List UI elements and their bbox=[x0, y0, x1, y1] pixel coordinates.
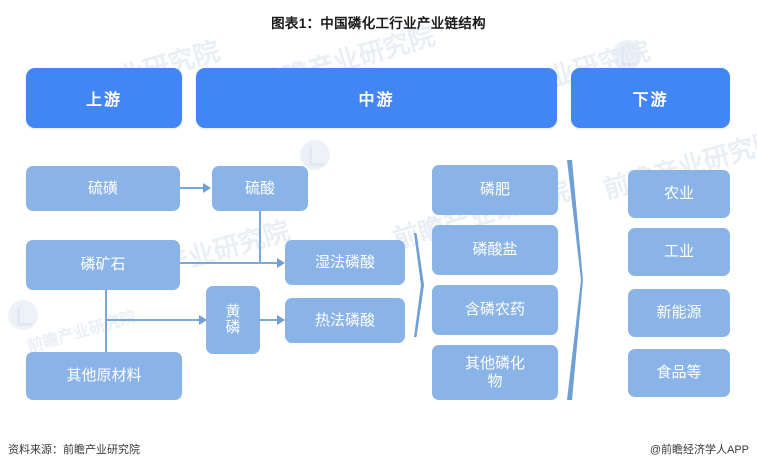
connector-ore-to-junction bbox=[105, 290, 107, 352]
stage-header-upstream[interactable]: 上游 bbox=[26, 68, 182, 128]
connector-junction-to-yellow-phosphorus bbox=[105, 319, 203, 321]
stage-header-downstream[interactable]: 下游 bbox=[571, 68, 730, 128]
node-other-phosphorus-compounds-label: 其他磷化物 bbox=[464, 355, 527, 390]
node-phosphate-fertilizer[interactable]: 磷肥 bbox=[432, 165, 558, 215]
stage-header-downstream-label: 下游 bbox=[632, 86, 668, 110]
node-phosphorus-pesticide[interactable]: 含磷农药 bbox=[432, 285, 558, 335]
node-sulfuric-acid-label: 硫酸 bbox=[245, 180, 275, 197]
stage-header-midstream-label: 中游 bbox=[358, 86, 394, 110]
arrow-head-icon bbox=[203, 183, 211, 193]
node-food-etc-label: 食品等 bbox=[656, 364, 701, 381]
node-phosphate-salt-label: 磷酸盐 bbox=[472, 241, 517, 258]
arrow-head-icon bbox=[277, 315, 285, 325]
node-phosphorus-pesticide-label: 含磷农药 bbox=[465, 301, 525, 318]
stage-header-upstream-label: 上游 bbox=[86, 86, 122, 110]
node-industry-label: 工业 bbox=[664, 243, 694, 260]
node-other-phosphorus-compounds[interactable]: 其他磷化物 bbox=[432, 345, 558, 400]
node-phosphate-ore[interactable]: 磷矿石 bbox=[26, 240, 180, 290]
node-wet-process-phosphoric-acid[interactable]: 湿法磷酸 bbox=[285, 240, 405, 285]
node-phosphate-ore-label: 磷矿石 bbox=[80, 256, 125, 273]
node-phosphate-fertilizer-label: 磷肥 bbox=[480, 181, 510, 198]
node-sulfuric-acid[interactable]: 硫酸 bbox=[212, 166, 308, 211]
connector-sulfur-to-sulfuric-acid bbox=[180, 187, 204, 189]
node-sulfur-label: 硫磺 bbox=[88, 180, 118, 197]
node-new-energy[interactable]: 新能源 bbox=[628, 289, 730, 337]
connector-ore-to-wet-acid bbox=[180, 262, 281, 264]
node-phosphate-salt[interactable]: 磷酸盐 bbox=[432, 225, 558, 275]
supply-chain-diagram: 上游 中游 下游 硫磺 硫酸 磷矿石 其他原材料 黄磷 湿法磷酸 热法磷酸 bbox=[0, 0, 757, 470]
node-yellow-phosphorus[interactable]: 黄磷 bbox=[206, 286, 260, 354]
node-yellow-phosphorus-label: 黄磷 bbox=[225, 304, 242, 337]
node-agriculture-label: 农业 bbox=[664, 185, 694, 202]
node-other-raw-material[interactable]: 其他原材料 bbox=[26, 352, 182, 400]
node-thermal-process-phosphoric-acid-label: 热法磷酸 bbox=[315, 312, 375, 329]
node-industry[interactable]: 工业 bbox=[628, 228, 730, 276]
node-thermal-process-phosphoric-acid[interactable]: 热法磷酸 bbox=[285, 298, 405, 343]
node-new-energy-label: 新能源 bbox=[656, 304, 701, 321]
node-wet-process-phosphoric-acid-label: 湿法磷酸 bbox=[315, 254, 375, 271]
node-food-etc[interactable]: 食品等 bbox=[628, 349, 730, 397]
node-sulfur[interactable]: 硫磺 bbox=[26, 166, 180, 211]
stage-header-midstream[interactable]: 中游 bbox=[196, 68, 557, 128]
arrow-head-icon bbox=[277, 258, 285, 268]
brace-midstream-to-downstream-icon bbox=[564, 160, 584, 400]
connector-sulfuric-acid-down bbox=[259, 210, 261, 263]
node-other-raw-material-label: 其他原材料 bbox=[66, 367, 141, 384]
brace-upstream-to-midstream-icon bbox=[411, 233, 425, 337]
node-agriculture[interactable]: 农业 bbox=[628, 170, 730, 218]
